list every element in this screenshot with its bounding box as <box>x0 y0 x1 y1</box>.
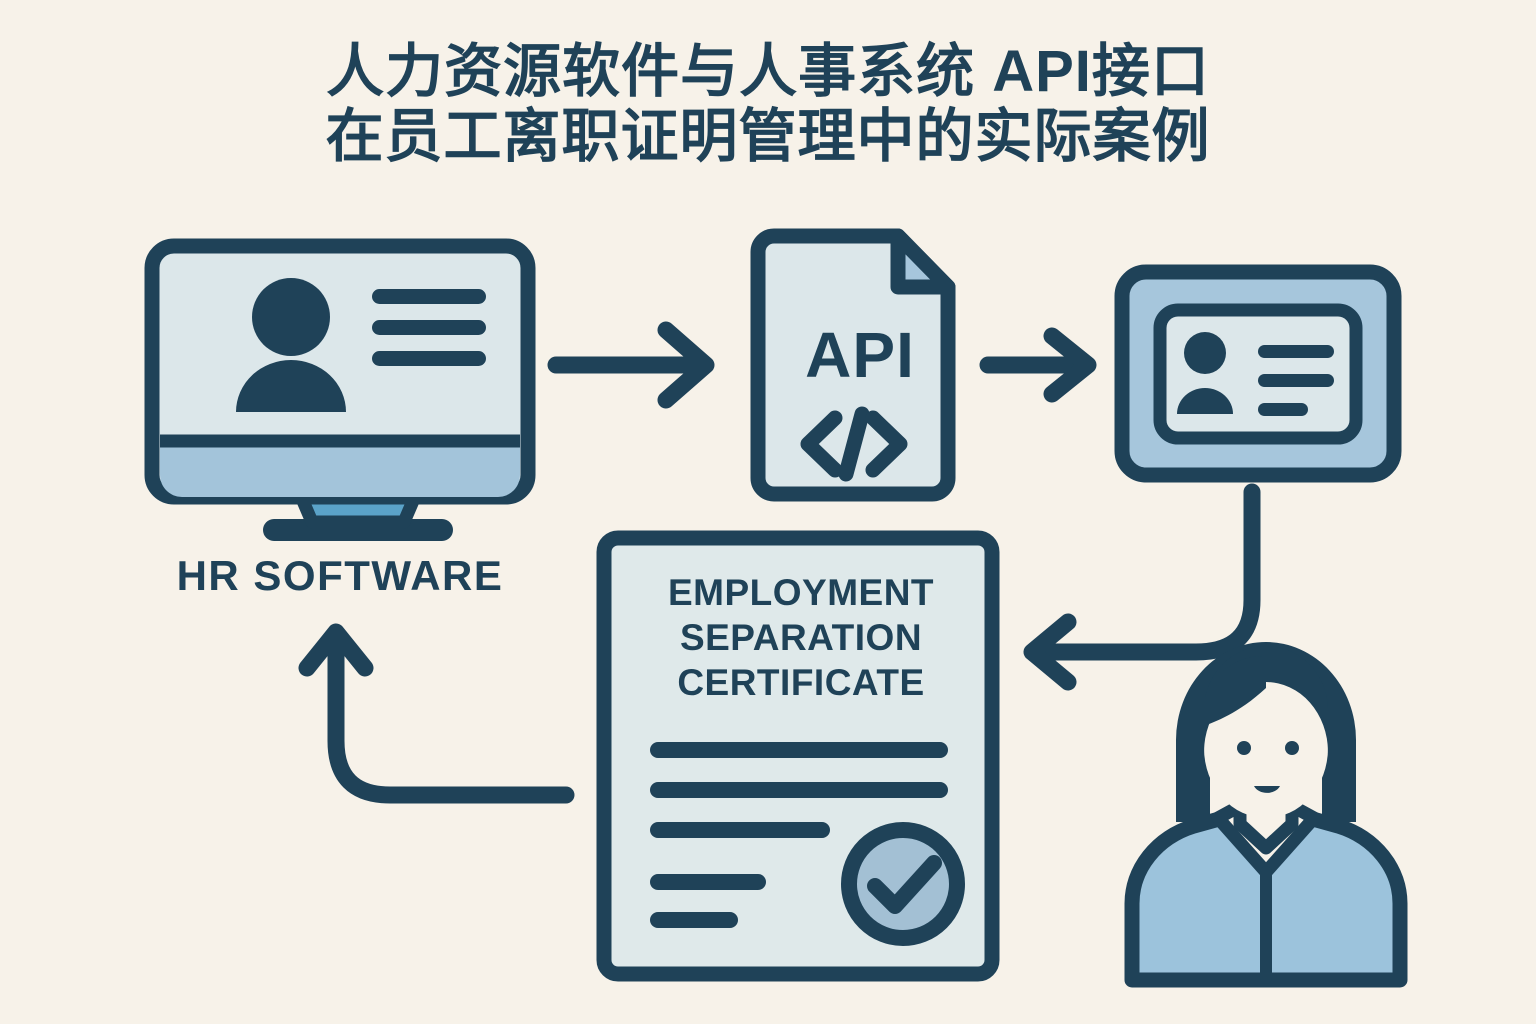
employee-eye-left <box>1237 741 1251 755</box>
certificate-title-line-2: SEPARATION <box>618 615 984 660</box>
monitor-screen-line <box>372 351 486 366</box>
employee-hair-side-left <box>1186 718 1204 790</box>
id-card-line <box>1258 345 1334 358</box>
monitor-base-band <box>160 441 520 497</box>
certificate-body-line <box>650 742 948 758</box>
certificate-title: EMPLOYMENT SEPARATION CERTIFICATE <box>618 570 984 705</box>
employee-eye-right <box>1285 741 1299 755</box>
hr-software-caption: HR SOFTWARE <box>130 552 550 600</box>
arrow-card-to-certificate <box>1032 492 1252 682</box>
certificate-body-line <box>650 822 830 838</box>
monitor-avatar-head <box>252 278 330 356</box>
seal-ring <box>849 830 957 938</box>
id-card-line <box>1258 374 1334 387</box>
employee-avatar-icon <box>1132 642 1400 980</box>
monitor-user-icon <box>152 246 528 541</box>
certificate-title-line-1: EMPLOYMENT <box>618 570 984 615</box>
certificate-body-line <box>650 874 766 890</box>
arrow-api-to-card <box>988 336 1088 394</box>
id-card-icon <box>1122 272 1394 475</box>
arrow-certificate-to-hr <box>307 632 566 795</box>
id-card-avatar-head <box>1184 332 1226 374</box>
api-document-folded-corner <box>898 236 948 287</box>
monitor-screen-line <box>372 320 486 335</box>
certificate-title-line-3: CERTIFICATE <box>618 660 984 705</box>
infographic-canvas: 人力资源软件与人事系统 API接口 在员工离职证明管理中的实际案例 <box>0 0 1536 1024</box>
certificate-body-line <box>650 782 948 798</box>
api-label: API <box>760 318 960 392</box>
check-circle-seal <box>849 830 957 938</box>
diagram-artwork <box>0 0 1536 1024</box>
monitor-screen-line <box>372 289 486 304</box>
arrow-hr-to-api <box>556 330 706 400</box>
certificate-body-line <box>650 912 738 928</box>
id-card-line <box>1258 403 1308 416</box>
employee-hair-side-right <box>1328 718 1346 790</box>
